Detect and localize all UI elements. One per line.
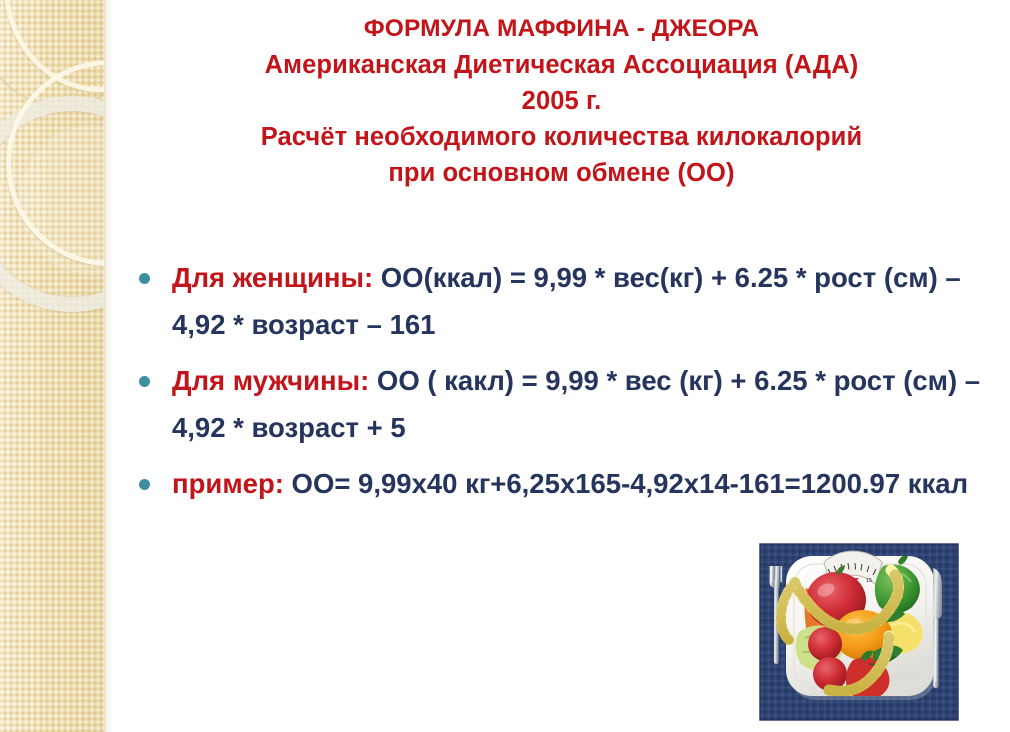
photo-artwork: 120 15	[733, 540, 985, 723]
sidebar-edge-shadow	[104, 0, 113, 732]
title-line-4: Расчёт необходимого количества килокалор…	[124, 119, 999, 155]
bullet-dot-icon	[139, 273, 150, 284]
slide-content: ФОРМУЛА МАФФИНА - ДЖЕОРА Американская Ди…	[113, 0, 1010, 732]
bullet-list: Для женщины: ОО(ккал) = 9,99 * вес(кг) +…	[131, 254, 1003, 516]
slide: ФОРМУЛА МАФФИНА - ДЖЕОРА Американская Ди…	[0, 0, 1010, 732]
bullet-dot-icon	[139, 479, 150, 490]
bullet-lead-label: Для мужчины:	[172, 365, 369, 396]
title-line-3: 2005 г.	[124, 83, 999, 119]
title-line-5: при основном обмене (ОО)	[124, 155, 999, 191]
list-item: Для женщины: ОО(ккал) = 9,99 * вес(кг) +…	[131, 254, 1003, 348]
bullet-lead-label: пример:	[172, 468, 284, 499]
list-item: пример: ОО= 9,99х40 кг+6,25х165-4,92х14-…	[131, 460, 1003, 507]
slide-title: ФОРМУЛА МАФФИНА - ДЖЕОРА Американская Ди…	[124, 11, 999, 191]
decorative-sidebar-panel	[0, 0, 104, 732]
title-line-2: Американская Диетическая Ассоциация (АДА…	[124, 47, 999, 83]
title-line-1: ФОРМУЛА МАФФИНА - ДЖЕОРА	[124, 11, 999, 47]
svg-text:15: 15	[866, 578, 872, 584]
bullet-formula-text: ОО= 9,99х40 кг+6,25х165-4,92х14-161=1200…	[284, 468, 968, 499]
list-item: Для мужчины: ОО ( какл) = 9,99 * вес (кг…	[131, 357, 1003, 451]
healthy-food-plate-photo: 120 15	[733, 540, 985, 723]
bullet-dot-icon	[139, 376, 150, 387]
bullet-lead-label: Для женщины:	[172, 262, 373, 293]
